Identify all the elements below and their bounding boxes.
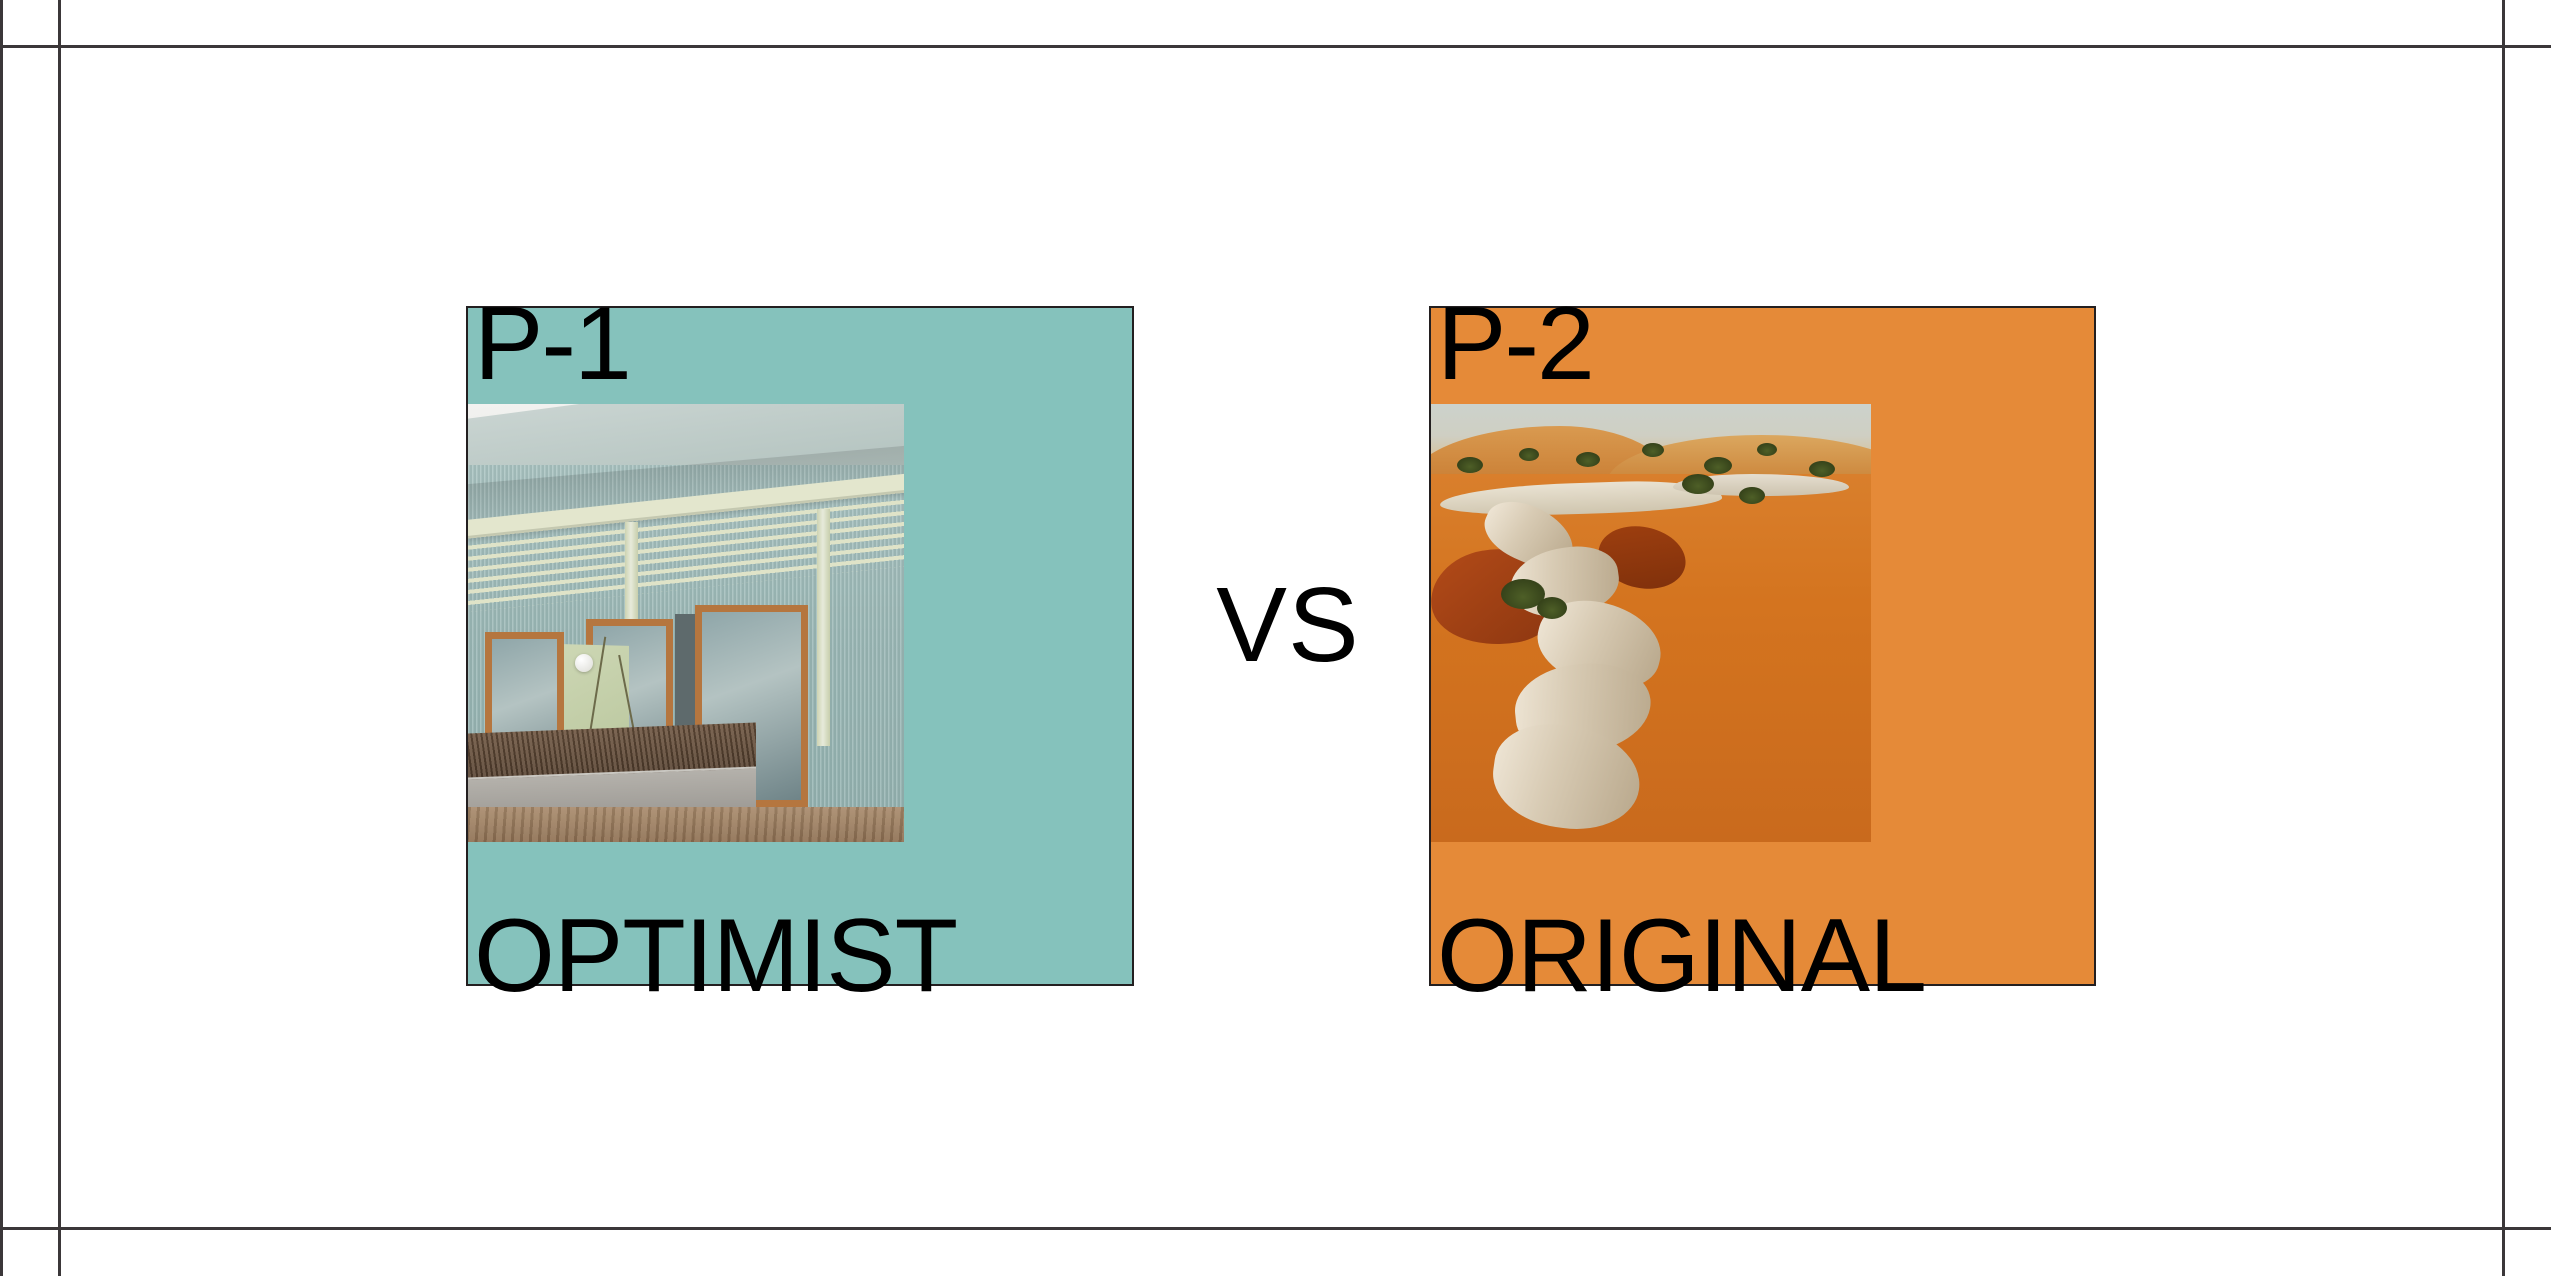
photo-shrub — [1537, 597, 1567, 619]
photo-wood-deck — [468, 807, 904, 842]
guide-line-horizontal-top — [0, 45, 2551, 48]
card-code-label: P-1 — [474, 292, 630, 396]
photo-shrub — [1704, 457, 1732, 474]
guide-line-left-edge — [0, 0, 3, 1276]
photo-shrub — [1457, 457, 1483, 473]
card-name-label: OPTIMIST — [474, 904, 957, 1008]
photo-shrub — [1519, 448, 1539, 461]
comparison-card-original[interactable]: P-2 — [1429, 306, 2096, 986]
guide-line-vertical-left — [58, 0, 61, 1276]
card-code-label: P-2 — [1437, 292, 1593, 396]
comparison-stage: P-1 — [0, 0, 2551, 1276]
photo-building-facade — [468, 404, 904, 842]
photo-river-channel — [1466, 500, 1739, 842]
photo-desert-wadi — [1431, 404, 1871, 842]
versus-label: VS — [1198, 572, 1378, 678]
card-name-label: ORIGINAL — [1437, 904, 1926, 1008]
photo-wall-lamp — [575, 654, 593, 672]
photo-shrub — [1682, 474, 1714, 494]
card-photo-optimist — [468, 404, 904, 842]
photo-column-b — [817, 509, 830, 746]
guide-line-vertical-right — [2502, 0, 2505, 1276]
comparison-card-optimist[interactable]: P-1 — [466, 306, 1134, 986]
guide-line-horizontal-bottom — [0, 1227, 2551, 1230]
card-photo-original — [1431, 404, 1871, 842]
